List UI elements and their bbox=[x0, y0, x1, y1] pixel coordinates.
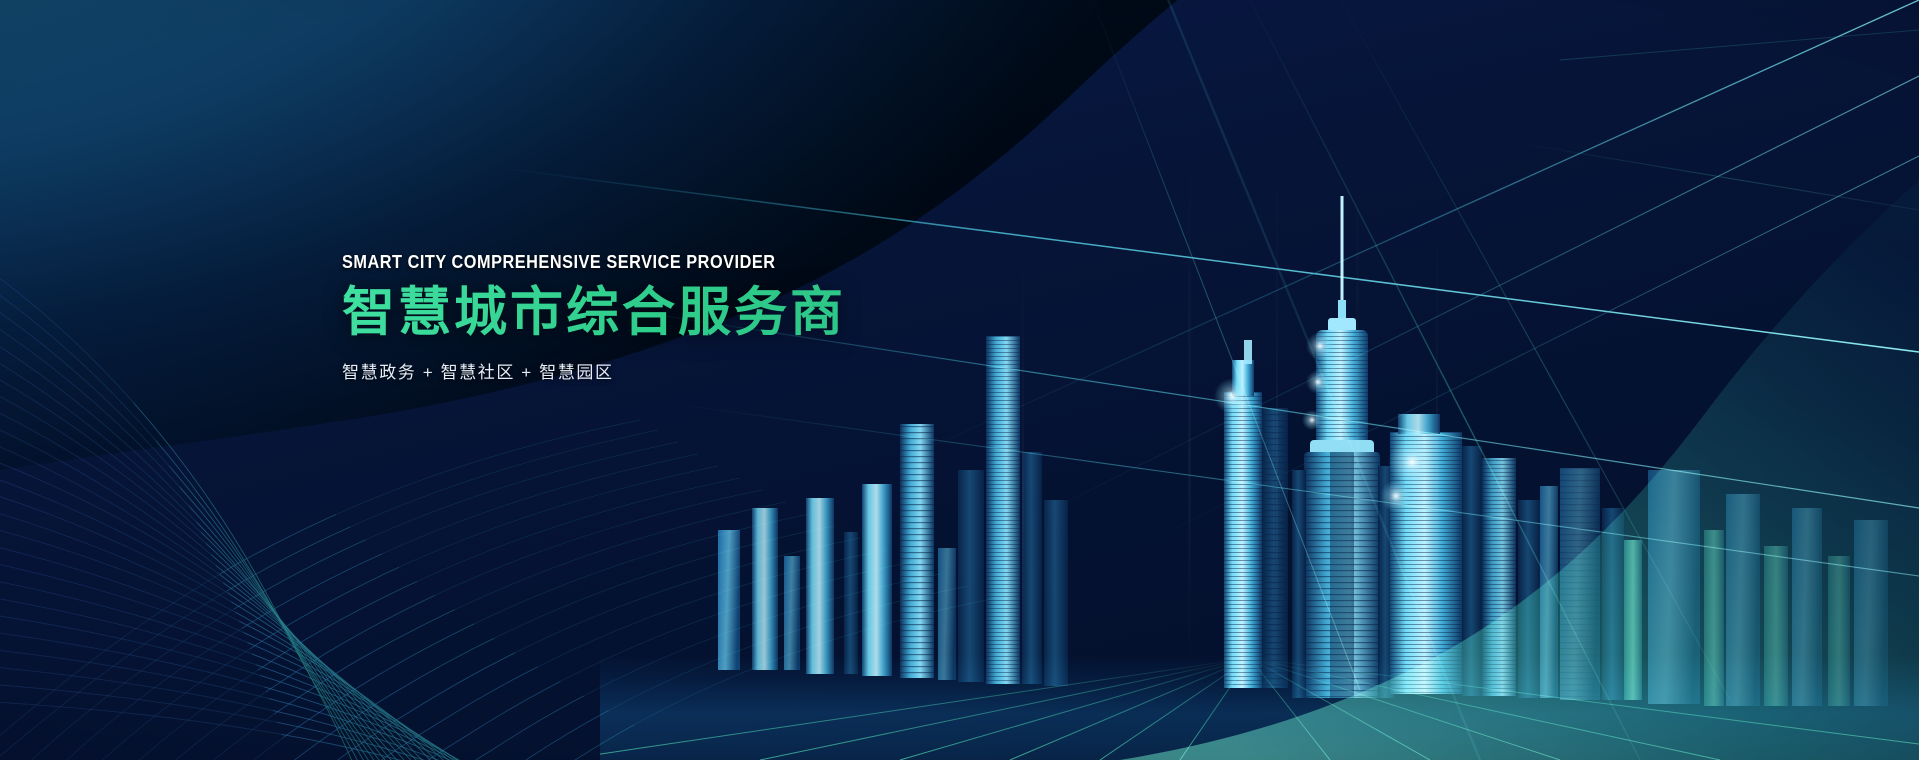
banner-subline: 智慧政务 + 智慧社区 + 智慧园区 bbox=[342, 358, 1042, 383]
hero-copy: SMART CITY COMPREHENSIVE SERVICE PROVIDE… bbox=[342, 252, 1042, 383]
banner-headline: 智慧城市综合服务商 bbox=[342, 284, 1042, 341]
hero-banner: SMART CITY COMPREHENSIVE SERVICE PROVIDE… bbox=[0, 0, 1919, 760]
banner-eyebrow: SMART CITY COMPREHENSIVE SERVICE PROVIDE… bbox=[342, 252, 958, 272]
